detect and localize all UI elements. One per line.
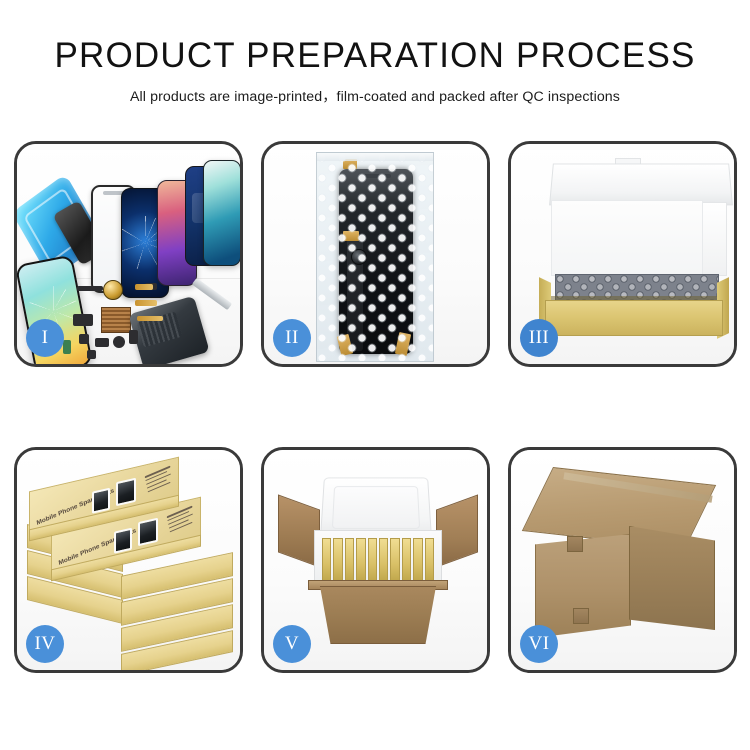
step-panel-2[interactable]: II (261, 141, 490, 367)
bubble-highlight-layer (317, 153, 433, 361)
step-panel-3[interactable]: III (508, 141, 737, 367)
chip-component (101, 307, 131, 333)
step-numeral-6: VI (528, 633, 549, 655)
step-6-image: VI (511, 450, 734, 670)
page-title: PRODUCT PREPARATION PROCESS (0, 38, 750, 75)
step-panel-5[interactable]: V (261, 447, 490, 673)
step-1-image: I (17, 144, 240, 364)
step-panel-6[interactable]: VI (508, 447, 737, 673)
page-subtitle: All products are image-printed，film-coat… (0, 86, 750, 106)
white-foam-sheet (551, 200, 703, 276)
yellow-boxes-inside (322, 538, 434, 582)
step-badge-4: IV (26, 625, 64, 663)
step-panel-1[interactable]: I (14, 141, 243, 367)
header: PRODUCT PREPARATION PROCESS All products… (0, 0, 750, 106)
process-steps-grid: I II (14, 141, 736, 673)
step-numeral-2: II (285, 327, 299, 349)
tape-patch-upper (567, 536, 583, 552)
gold-component (103, 280, 123, 300)
tape-patch-lower (573, 608, 589, 624)
step-numeral-5: V (285, 633, 299, 655)
carton-right-face (629, 526, 715, 630)
teal-phone (203, 160, 240, 266)
yellow-box-front (545, 300, 723, 336)
product-preparation-infographic: PRODUCT PREPARATION PROCESS All products… (0, 0, 750, 750)
step-badge-5: V (273, 625, 311, 663)
flex-cable-2 (135, 300, 157, 306)
step-badge-6: VI (520, 625, 558, 663)
flex-cable-3 (137, 316, 163, 321)
step-4-image: Mobile Phone Spare Parts Mobile Phone Sp… (17, 450, 240, 670)
step-panel-4[interactable]: Mobile Phone Spare Parts Mobile Phone Sp… (14, 447, 243, 673)
step-2-image: II (264, 144, 487, 364)
bag-seal (317, 153, 433, 161)
step-badge-2: II (273, 319, 311, 357)
step-badge-3: III (520, 319, 558, 357)
carton-front (312, 586, 444, 644)
carton-flap-right (436, 494, 478, 567)
step-numeral-3: III (529, 327, 549, 349)
flex-cable-1 (135, 284, 153, 290)
step-badge-1: I (26, 319, 64, 357)
bubble-wrap-bag (316, 152, 434, 362)
step-numeral-1: I (42, 327, 49, 349)
step-5-image: V (264, 450, 487, 670)
tweezers-tool (192, 278, 232, 310)
step-numeral-4: IV (34, 633, 55, 655)
step-3-image: III (511, 144, 734, 364)
